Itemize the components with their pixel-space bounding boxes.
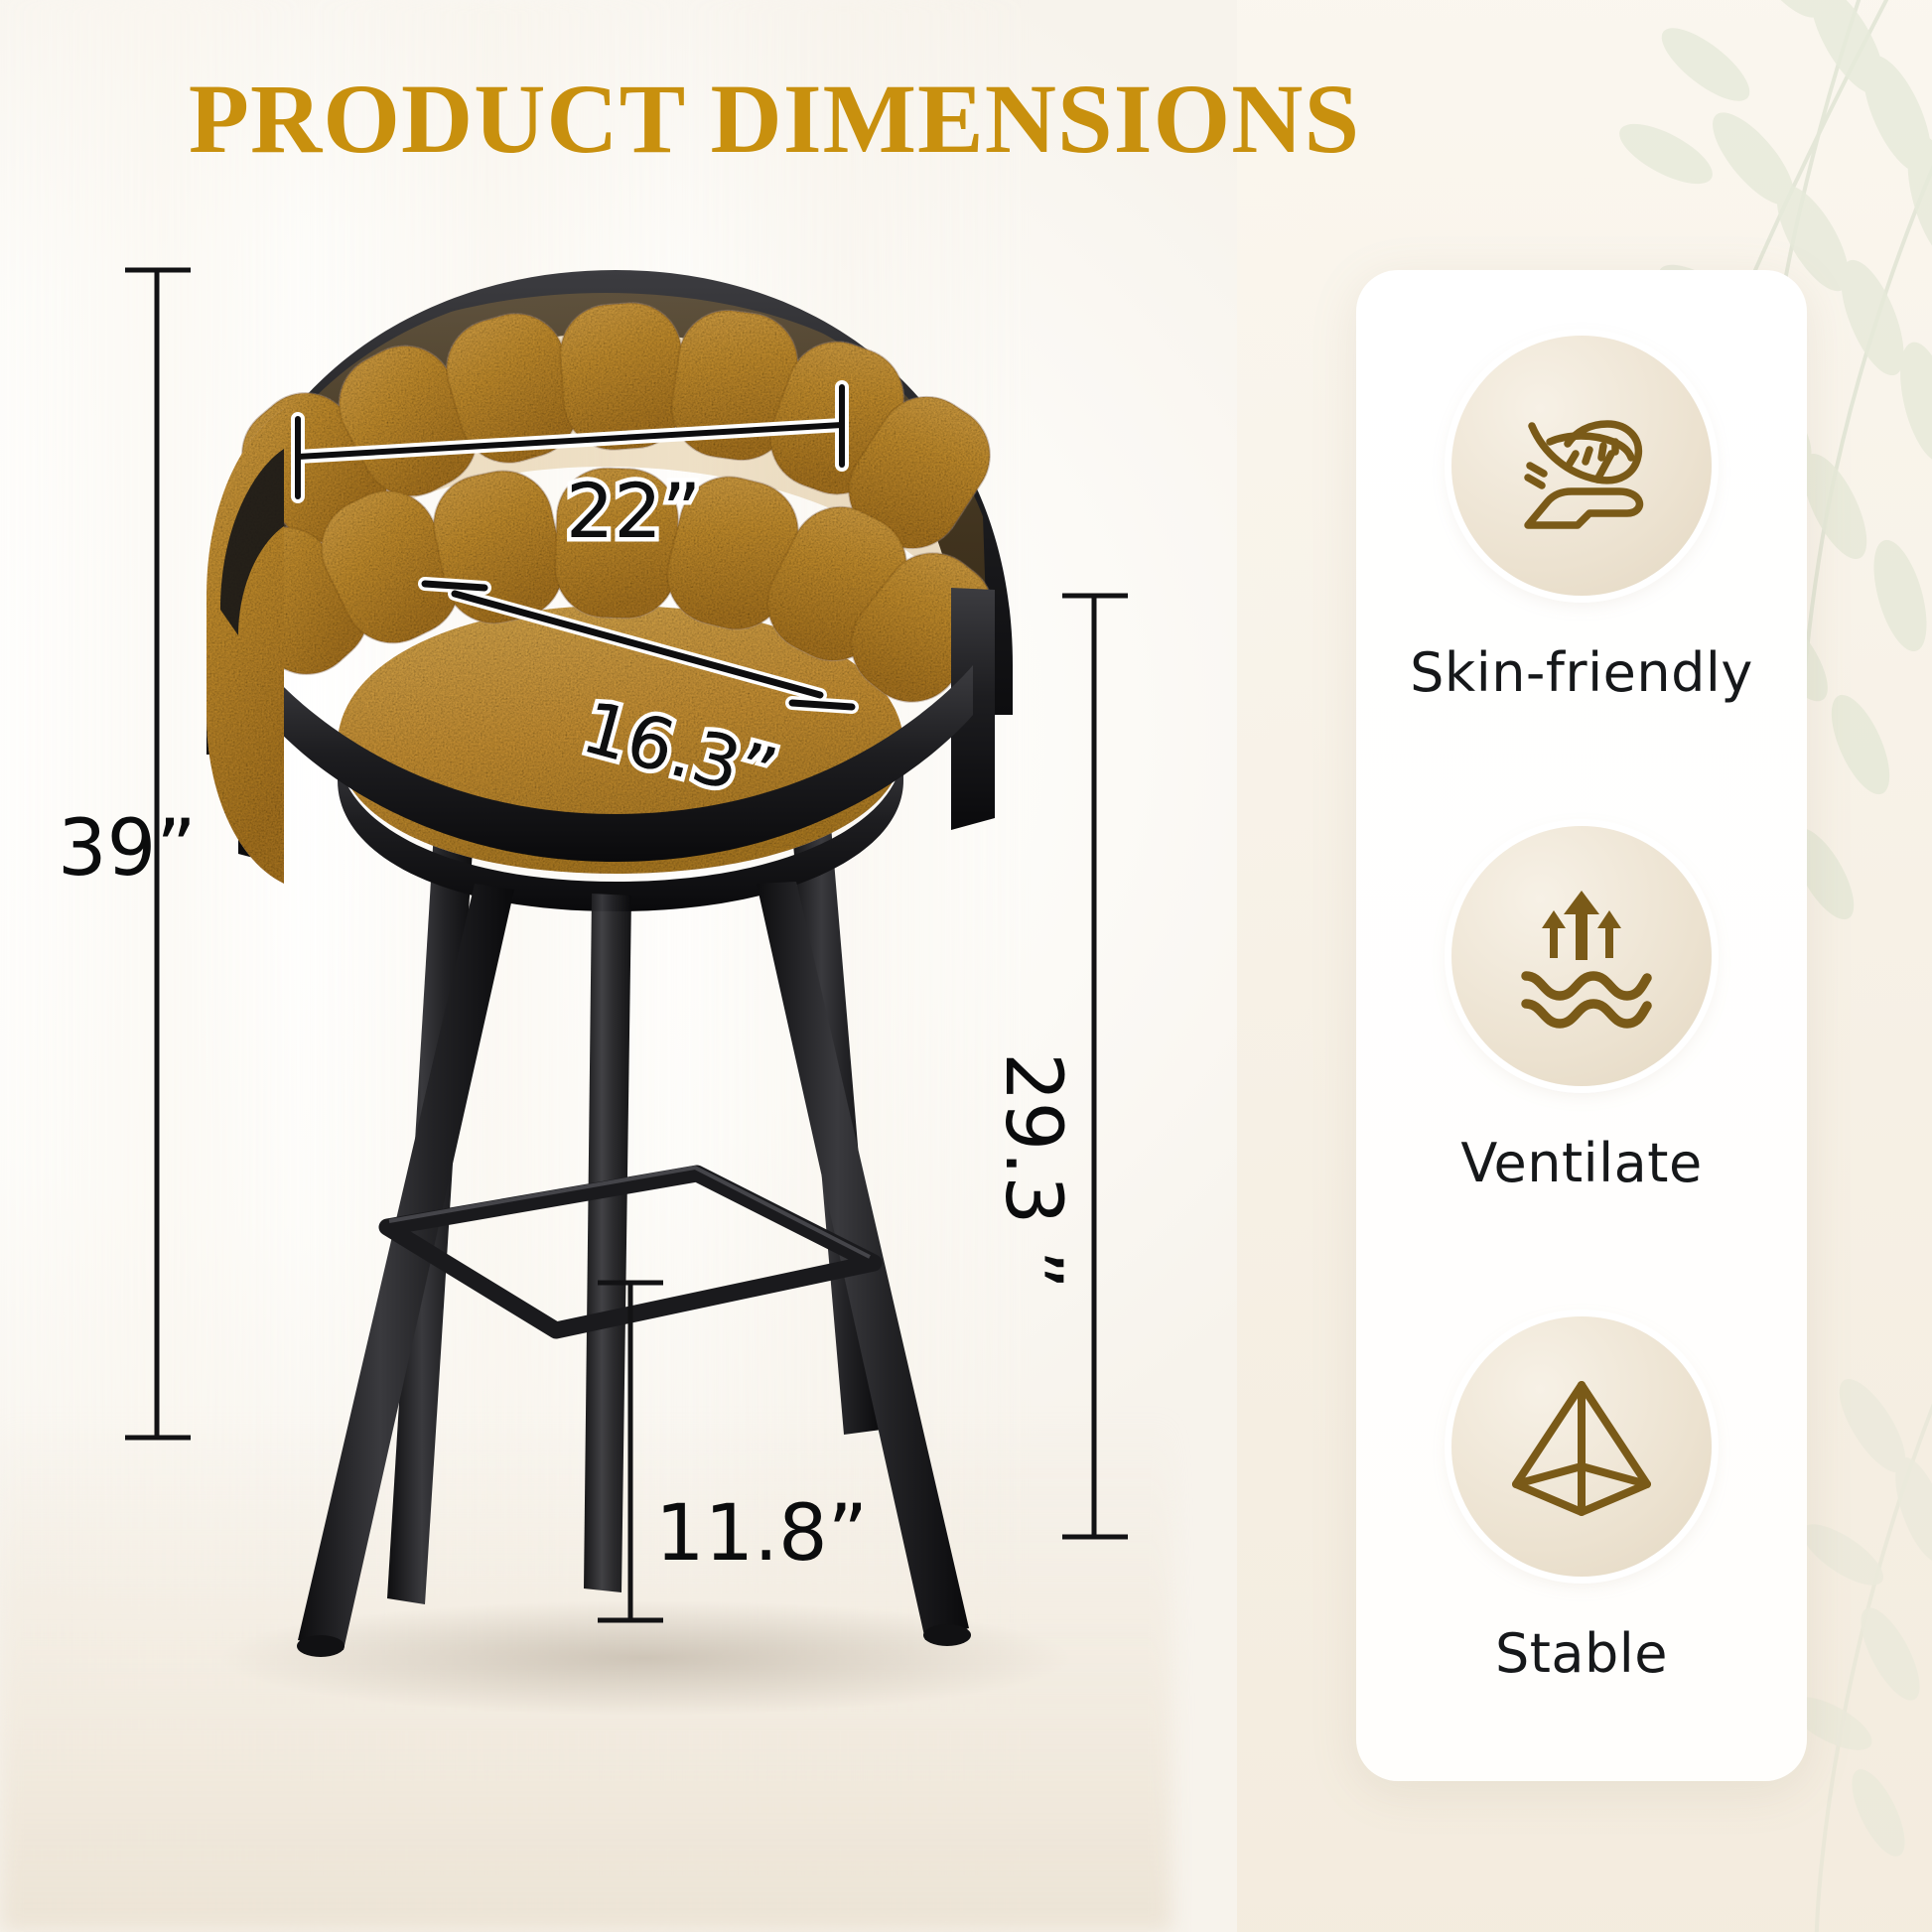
feature-icon-circle	[1451, 336, 1712, 596]
product-illustration-bar-stool	[89, 199, 1211, 1747]
page-title: PRODUCT DIMENSIONS	[0, 62, 1549, 176]
air-flow-waves-icon	[1498, 873, 1665, 1039]
wireframe-pyramid-icon	[1498, 1363, 1665, 1530]
feature-item-ventilate: Ventilate	[1356, 826, 1807, 1194]
feature-icon-circle	[1451, 826, 1712, 1086]
dimension-label-footrest-height: 11.8”	[655, 1489, 868, 1579]
dimension-label-back-width: 22”	[566, 467, 701, 555]
feature-item-skin-friendly: Skin-friendly	[1356, 336, 1807, 704]
dimension-label-seat-height: 29.3 ”	[988, 1052, 1077, 1290]
feature-icon-circle	[1451, 1316, 1712, 1577]
feature-label: Stable	[1356, 1622, 1807, 1685]
feature-panel: Skin-friendly	[1356, 270, 1807, 1781]
hand-holding-feather-icon	[1498, 382, 1665, 549]
infographic-canvas: PRODUCT DIMENSIONS	[0, 0, 1932, 1932]
feature-item-stable: Stable	[1356, 1316, 1807, 1685]
feature-label: Ventilate	[1356, 1132, 1807, 1194]
feature-label: Skin-friendly	[1356, 641, 1807, 704]
dimension-label-overall-height: 39”	[58, 804, 197, 894]
